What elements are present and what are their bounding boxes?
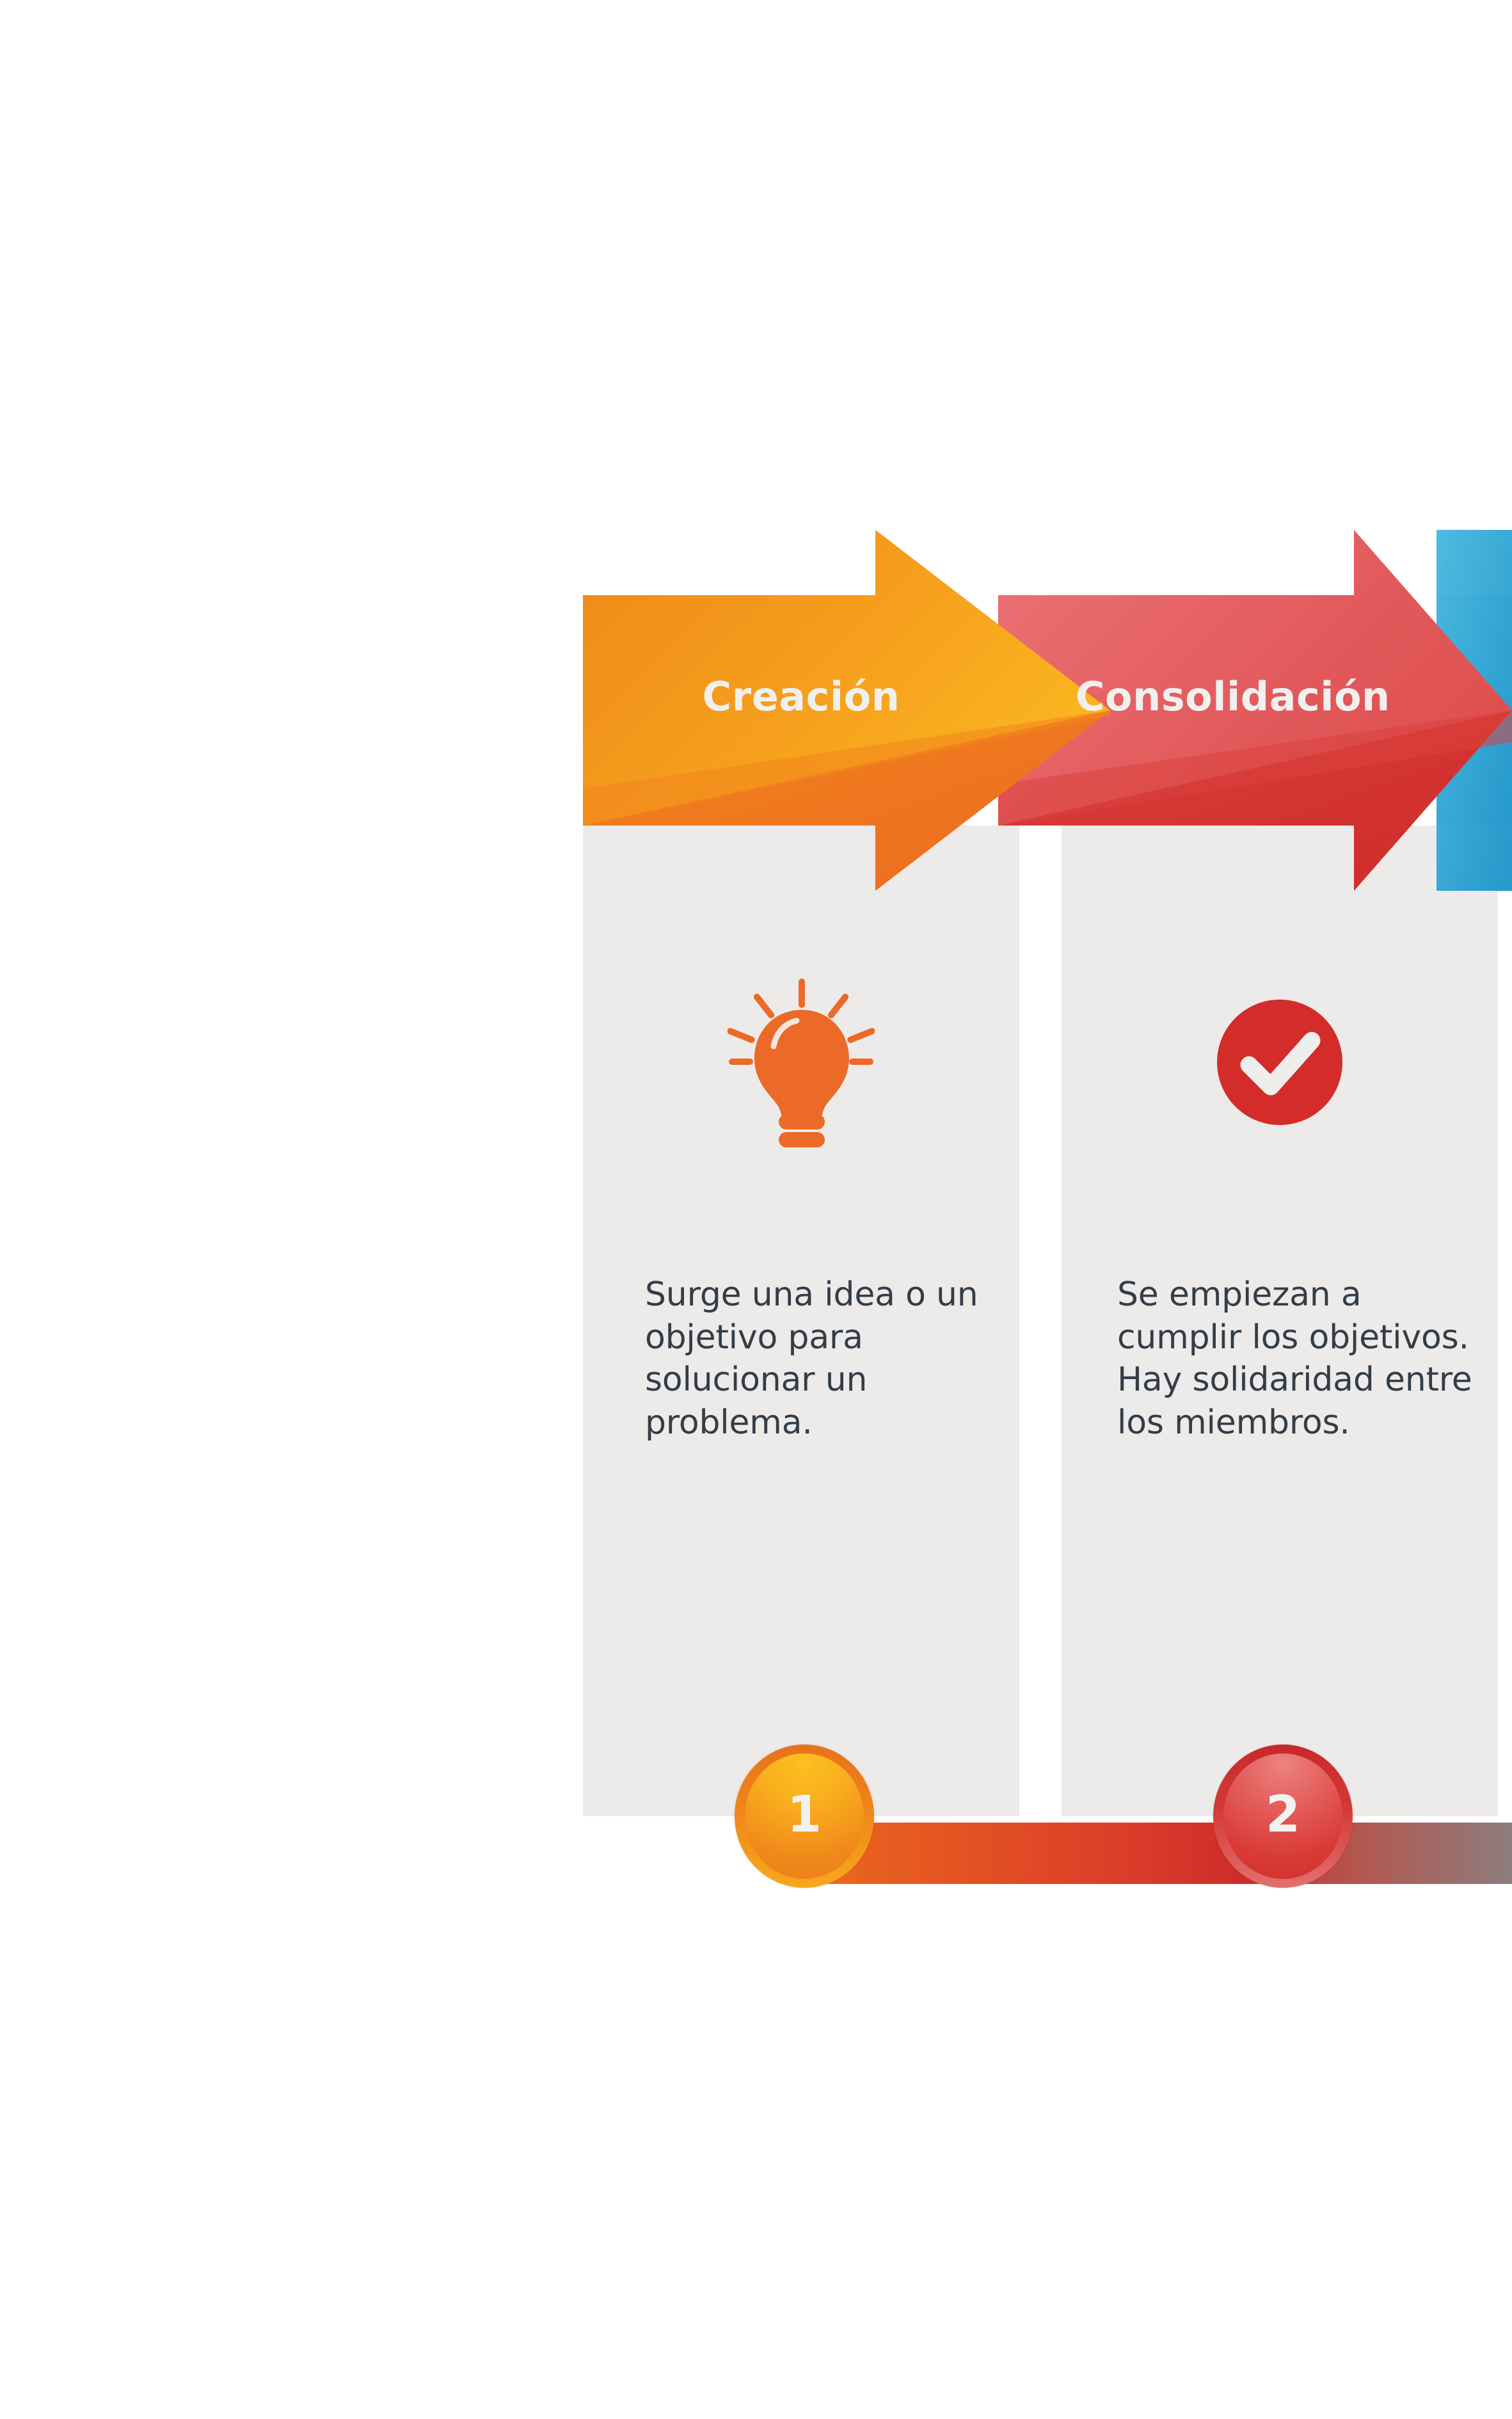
step-title-1: Creación <box>583 673 1019 720</box>
badge-number-1: 1 <box>787 1790 822 1840</box>
check-circle-icon <box>1216 998 1344 1126</box>
lightbulb-icon <box>728 975 875 1147</box>
check-circle-icon-wrapper <box>1184 986 1376 1139</box>
infographic-canvas: Creación Consolidación <box>0 0 1512 2419</box>
step-title-2: Consolidación <box>1062 673 1512 720</box>
timeline-bar <box>793 1823 1512 1884</box>
step-description-2: Se empiezan a cumplir los objetivos. Hay… <box>1117 1273 1476 1444</box>
lightbulb-icon-wrapper <box>705 971 897 1151</box>
step-badge-2[interactable]: 2 <box>1213 1744 1353 1888</box>
step-description-1: Surge una idea o un objetivo para soluci… <box>645 1273 991 1444</box>
step-badge-1[interactable]: 1 <box>735 1744 874 1888</box>
badge-number-2: 2 <box>1266 1790 1300 1840</box>
